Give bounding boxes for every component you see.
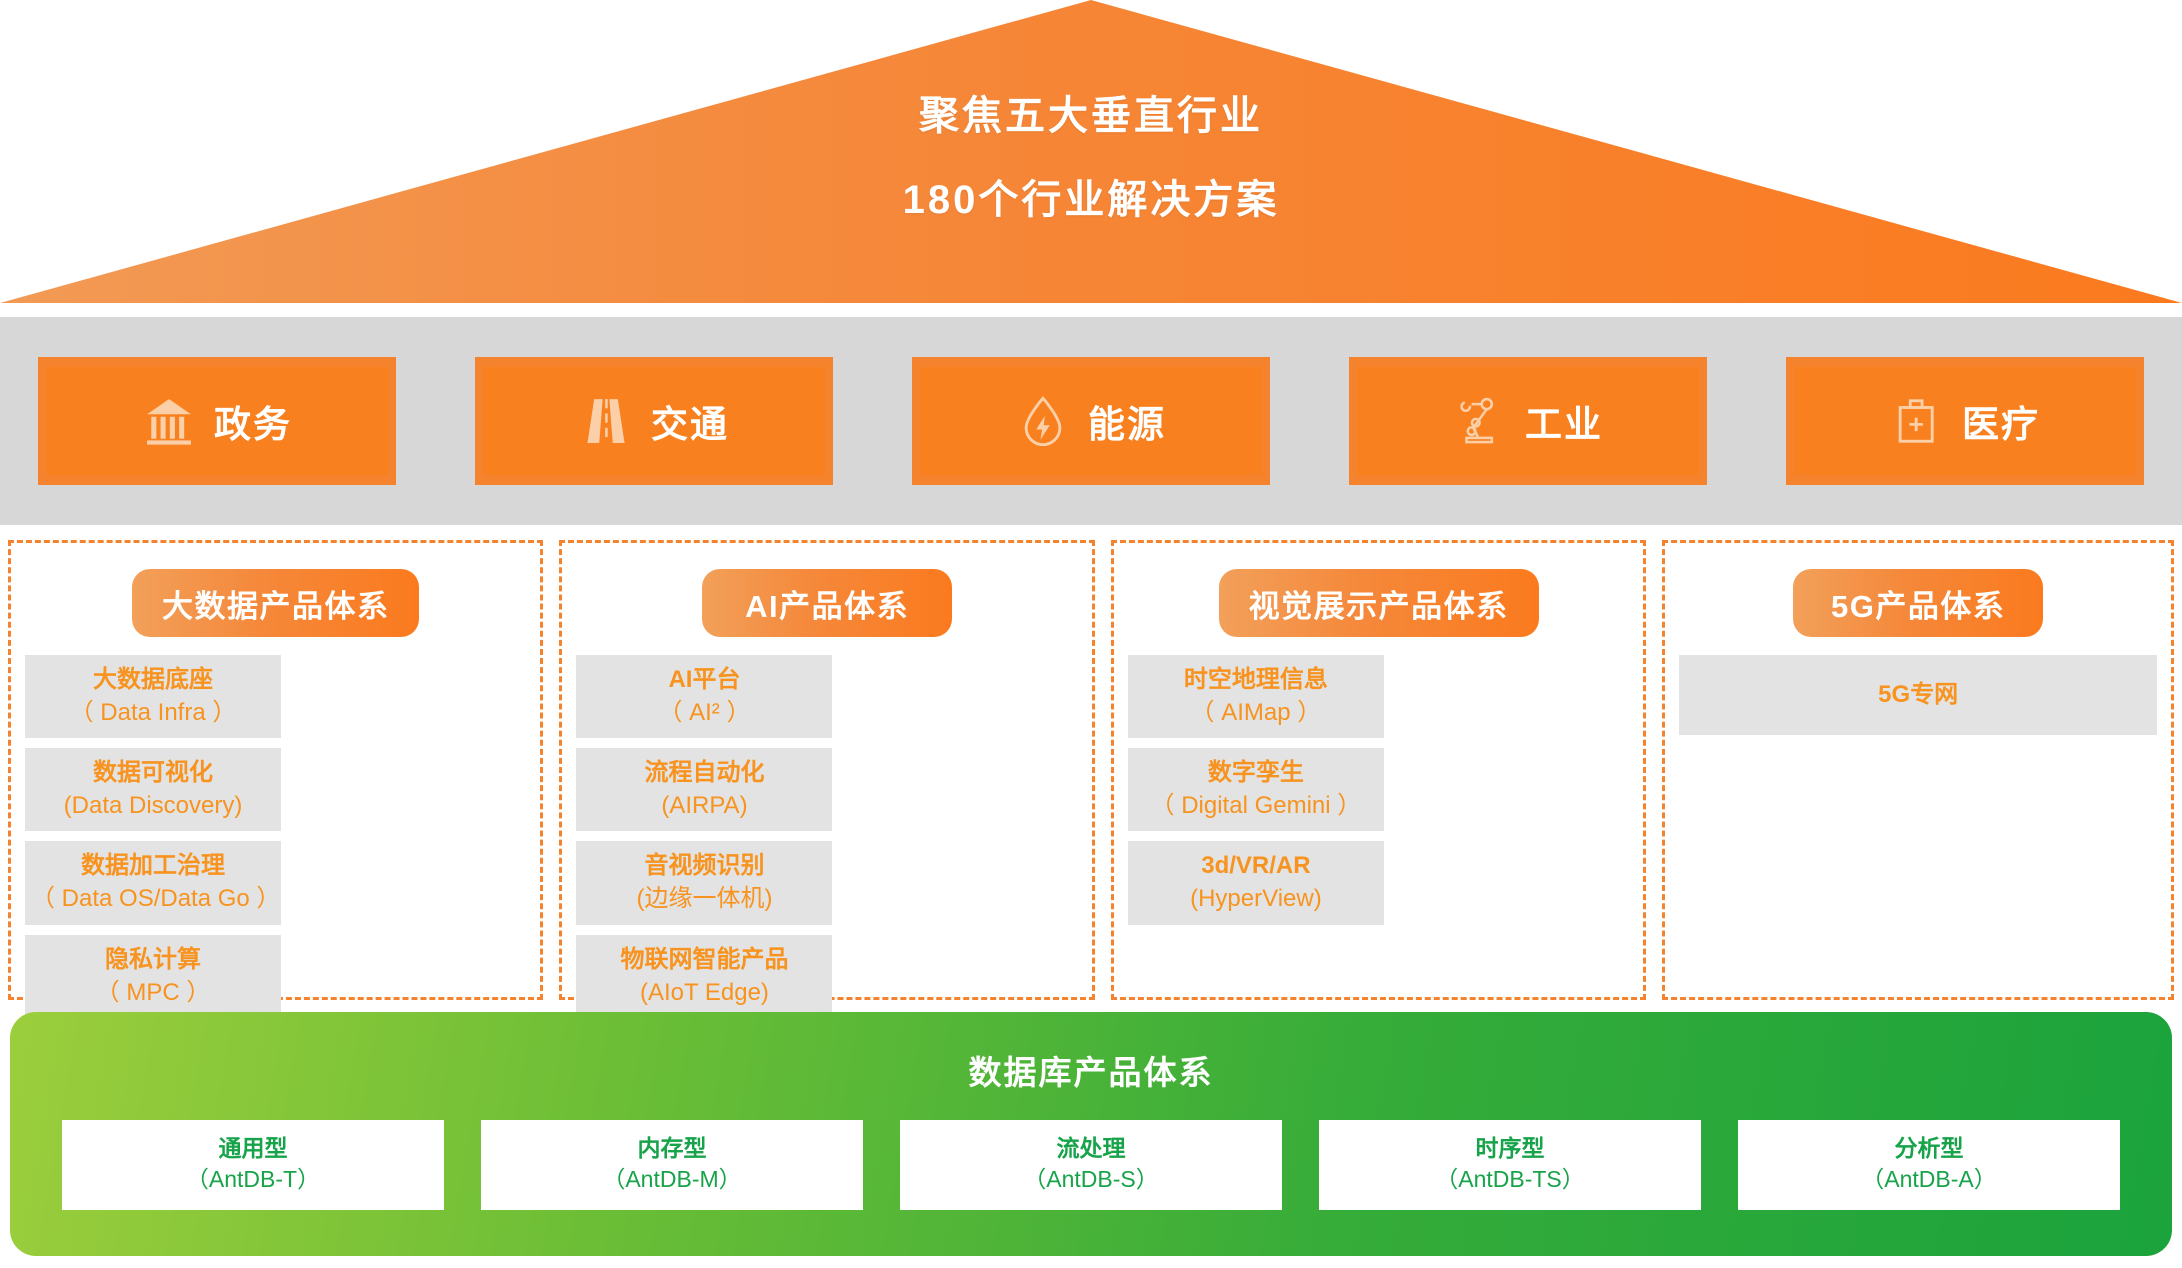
bank-icon: [142, 392, 196, 450]
industry-card-government[interactable]: 政务: [38, 357, 396, 485]
product-name-en: (HyperView): [1134, 883, 1378, 914]
panel-title-visual: 视觉展示产品体系: [1219, 569, 1539, 637]
product-name-en: （ AIMap ）: [1134, 697, 1378, 728]
product-name-en: （ Digital Gemini ）: [1134, 790, 1378, 821]
product-name-cn: 时空地理信息: [1134, 665, 1378, 695]
product-name-cn: 流程自动化: [582, 758, 826, 788]
db-name-en: （AntDB-A）: [1861, 1165, 1996, 1195]
panel-5g: 5G产品体系 5G专网: [1662, 540, 2174, 1000]
db-name-cn: 流处理: [1057, 1135, 1126, 1163]
product-name-en: （ Data Infra ）: [31, 697, 275, 728]
product-item[interactable]: 5G专网: [1679, 655, 2157, 735]
roof-title-line1: 聚焦五大垂直行业: [0, 96, 2182, 136]
product-name-cn: 3d/VR/AR: [1134, 851, 1378, 881]
industry-label: 医疗: [1962, 394, 2040, 448]
industry-band: 政务 交通 能源: [0, 317, 2182, 525]
medical-kit-icon: [1890, 392, 1944, 450]
product-name-en: (Data Discovery): [31, 790, 275, 821]
product-name-cn: AI平台: [582, 665, 826, 695]
roof-banner: 聚焦五大垂直行业 180个行业解决方案: [0, 0, 2182, 305]
db-name-en: （AntDB-M）: [602, 1165, 741, 1195]
product-name-cn: 隐私计算: [31, 945, 275, 975]
industry-card-industrial[interactable]: 工业: [1349, 357, 1707, 485]
db-name-cn: 时序型: [1476, 1135, 1545, 1163]
robot-arm-icon: [1453, 392, 1507, 450]
industry-card-energy[interactable]: 能源: [912, 357, 1270, 485]
industry-label: 政务: [214, 394, 292, 448]
db-name-en: （AntDB-TS）: [1435, 1165, 1585, 1195]
product-name-cn: 物联网智能产品: [582, 945, 826, 975]
database-card[interactable]: 流处理 （AntDB-S）: [900, 1120, 1282, 1210]
product-item[interactable]: 音视频识别 (边缘一体机): [576, 841, 832, 924]
panel-ai: AI产品体系 AI平台 （ AI² ） 流程自动化 (AIRPA) 音视频识别 …: [559, 540, 1094, 1000]
product-item[interactable]: 数据可视化 (Data Discovery): [25, 748, 281, 831]
industry-card-medical[interactable]: 医疗: [1786, 357, 2144, 485]
panel-items: 时空地理信息 （ AIMap ） 数字孪生 （ Digital Gemini ）…: [1128, 655, 1629, 925]
product-name-cn: 5G专网: [1685, 680, 2151, 710]
product-item[interactable]: 大数据底座 （ Data Infra ）: [25, 655, 281, 738]
db-name-cn: 通用型: [219, 1135, 288, 1163]
db-name-cn: 内存型: [638, 1135, 707, 1163]
panel-visual: 视觉展示产品体系 时空地理信息 （ AIMap ） 数字孪生 （ Digital…: [1111, 540, 1646, 1000]
product-item[interactable]: 数字孪生 （ Digital Gemini ）: [1128, 748, 1384, 831]
database-card[interactable]: 内存型 （AntDB-M）: [481, 1120, 863, 1210]
database-title: 数据库产品体系: [10, 1012, 2172, 1094]
product-item[interactable]: 数据加工治理 （ Data OS/Data Go ）: [25, 841, 281, 924]
architecture-diagram: 聚焦五大垂直行业 180个行业解决方案 政务: [0, 0, 2182, 1268]
product-name-en: (边缘一体机): [582, 883, 826, 914]
product-item[interactable]: AI平台 （ AI² ）: [576, 655, 832, 738]
product-name-cn: 数据可视化: [31, 758, 275, 788]
database-band: 数据库产品体系 通用型 （AntDB-T） 内存型 （AntDB-M） 流处理 …: [10, 1012, 2172, 1256]
database-card[interactable]: 分析型 （AntDB-A）: [1738, 1120, 2120, 1210]
product-name-en: (AIoT Edge): [582, 977, 826, 1008]
panel-big-data: 大数据产品体系 大数据底座 （ Data Infra ） 数据可视化 (Data…: [8, 540, 543, 1000]
panel-title-5g: 5G产品体系: [1793, 569, 2043, 637]
product-name-en: （ MPC ）: [31, 977, 275, 1008]
product-item[interactable]: 时空地理信息 （ AIMap ）: [1128, 655, 1384, 738]
database-card[interactable]: 时序型 （AntDB-TS）: [1319, 1120, 1701, 1210]
product-name-en: （ AI² ）: [582, 697, 826, 728]
product-name-cn: 音视频识别: [582, 851, 826, 881]
panel-title-big-data: 大数据产品体系: [132, 569, 420, 637]
db-name-en: （AntDB-S）: [1023, 1165, 1158, 1195]
industry-card-transport[interactable]: 交通: [475, 357, 833, 485]
industry-label: 工业: [1525, 394, 1603, 448]
product-item[interactable]: 隐私计算 （ MPC ）: [25, 935, 281, 1018]
db-name-en: （AntDB-T）: [186, 1165, 320, 1195]
product-name-cn: 大数据底座: [31, 665, 275, 695]
database-cards: 通用型 （AntDB-T） 内存型 （AntDB-M） 流处理 （AntDB-S…: [10, 1094, 2172, 1210]
energy-droplet-icon: [1016, 392, 1070, 450]
panel-title-ai: AI产品体系: [702, 569, 952, 637]
product-name-cn: 数字孪生: [1134, 758, 1378, 788]
product-name-cn: 数据加工治理: [31, 851, 275, 881]
database-card[interactable]: 通用型 （AntDB-T）: [62, 1120, 444, 1210]
product-name-en: (AIRPA): [582, 790, 826, 821]
roof-title-line2: 180个行业解决方案: [0, 180, 2182, 220]
panel-items: 5G专网: [1679, 655, 2157, 735]
product-item[interactable]: 物联网智能产品 (AIoT Edge): [576, 935, 832, 1018]
industry-label: 能源: [1088, 394, 1166, 448]
db-name-cn: 分析型: [1895, 1135, 1964, 1163]
industry-label: 交通: [651, 394, 729, 448]
product-item[interactable]: 3d/VR/AR (HyperView): [1128, 841, 1384, 924]
product-panels: 大数据产品体系 大数据底座 （ Data Infra ） 数据可视化 (Data…: [8, 540, 2174, 1000]
product-name-en: （ Data OS/Data Go ）: [31, 883, 275, 914]
product-item[interactable]: 流程自动化 (AIRPA): [576, 748, 832, 831]
road-icon: [579, 392, 633, 450]
roof-title-block: 聚焦五大垂直行业 180个行业解决方案: [0, 96, 2182, 220]
